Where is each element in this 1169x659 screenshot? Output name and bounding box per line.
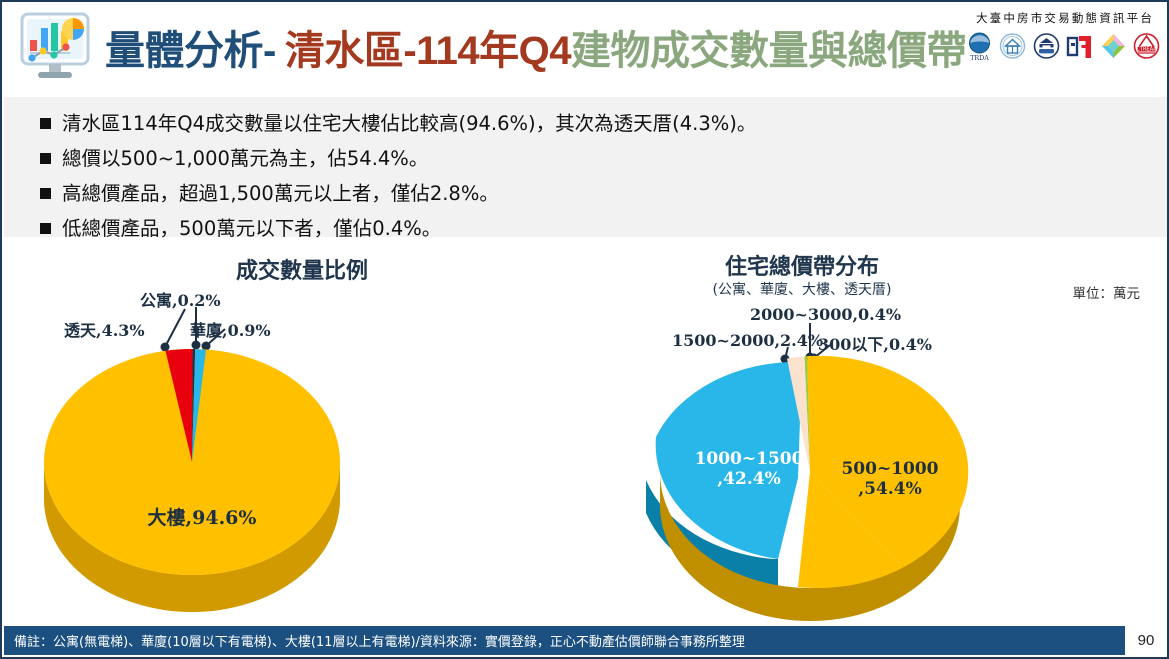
svg-text:CTREAA: CTREAA <box>1136 47 1157 53</box>
left-slice-label-mansion: 大樓,94.6% <box>22 507 382 529</box>
china-logo <box>1065 31 1094 63</box>
label-line-2: ,42.4% <box>717 469 780 489</box>
footer-note: 備註：公寓(無電梯)、華廈(10層以下有電梯)、大樓(11層以上有電梯)/資料來… <box>14 626 745 655</box>
platform-branding: 大臺中房市交易動態資訊平台 TRDA <box>965 10 1165 63</box>
unit-note: 單位：萬元 <box>1073 282 1141 302</box>
slide-footer: 備註：公寓(無電梯)、華廈(10層以下有電梯)、大樓(11層以上有電梯)/資料來… <box>4 626 1167 655</box>
page-number: 90 <box>1125 626 1167 655</box>
right-chart-title: 住宅總價帶分布 <box>602 249 1002 281</box>
left-pie-chart <box>22 237 582 627</box>
platform-logo-row: TRDA <box>965 31 1161 63</box>
square-bullet-icon <box>40 118 51 129</box>
house-association-logo <box>998 31 1027 63</box>
price-range-pie-panel: 住宅總價帶分布 (公寓、華廈、大樓、透天厝) 單位：萬元 2000~3000,0… <box>602 237 1162 627</box>
svg-text:TRDA: TRDA <box>970 54 989 62</box>
title-segment-district: 清水區-114年Q4 <box>285 18 571 76</box>
callout-townhouse: 透天,4.3% <box>64 317 145 341</box>
title-segment-topic: 建物成交數量與總價帶 <box>571 18 966 76</box>
callout-1500-2000: 1500~2000,2.4% <box>672 331 823 350</box>
right-slice-label-500-1000: 500~1000 ,54.4% <box>815 459 965 499</box>
bullet-text: 清水區114年Q4成交數量以住宅大樓佔比較高(94.6%)，其次為透天厝(4.3… <box>62 109 756 139</box>
transaction-count-pie-panel: 成交數量比例 公寓,0.2% 透天,4.3% 華廈,0.9% <box>22 237 582 627</box>
chart-monitor-icon <box>16 10 94 84</box>
callout-under-300: 300以下,0.4% <box>818 331 932 355</box>
charts-container: 成交數量比例 公寓,0.2% 透天,4.3% 華廈,0.9% <box>2 237 1169 627</box>
left-chart-title: 成交數量比例 <box>22 253 582 285</box>
trda-logo: TRDA <box>965 31 994 63</box>
slide-header: 量體分析- 清水區-114年Q4 建物成交數量與總價帶 大臺中房市交易動態資訊平… <box>2 2 1169 94</box>
bullet-text: 高總價產品，超過1,500萬元以上者，僅佔2.8%。 <box>62 179 499 209</box>
right-slice-label-1000-1500: 1000~1500 ,42.4% <box>674 449 824 489</box>
label-line-1: 1000~1500 <box>695 449 804 469</box>
title-segment-analysis: 量體分析- <box>105 18 276 76</box>
city-seal-logo <box>1032 31 1061 63</box>
callout-2000-3000: 2000~3000,0.4% <box>750 305 901 324</box>
square-bullet-icon <box>40 188 51 199</box>
page-title: 量體分析- 清水區-114年Q4 建物成交數量與總價帶 <box>105 16 966 78</box>
slide: 量體分析- 清水區-114年Q4 建物成交數量與總價帶 大臺中房市交易動態資訊平… <box>0 0 1169 659</box>
callout-mansion: 華廈,0.9% <box>190 317 271 341</box>
square-bullet-icon <box>40 223 51 234</box>
platform-name: 大臺中房市交易動態資訊平台 <box>965 10 1165 26</box>
ctreaa-logo: CTREAA <box>1132 31 1161 63</box>
label-line-1: 500~1000 <box>841 459 938 479</box>
colorcube-logo <box>1099 31 1128 63</box>
bullet-item: 高總價產品，超過1,500萬元以上者，僅佔2.8%。 <box>40 179 1167 209</box>
bullet-item: 清水區114年Q4成交數量以住宅大樓佔比較高(94.6%)，其次為透天厝(4.3… <box>40 109 1167 139</box>
summary-panel: 清水區114年Q4成交數量以住宅大樓佔比較高(94.6%)，其次為透天厝(4.3… <box>4 97 1167 237</box>
bullet-item: 總價以500~1,000萬元為主，佔54.4%。 <box>40 144 1167 174</box>
right-chart-subtitle: (公寓、華廈、大樓、透天厝) <box>602 279 1002 299</box>
callout-apartment: 公寓,0.2% <box>140 287 221 311</box>
label-line-2: ,54.4% <box>858 479 921 499</box>
bullet-text: 總價以500~1,000萬元為主，佔54.4%。 <box>62 144 428 174</box>
square-bullet-icon <box>40 153 51 164</box>
